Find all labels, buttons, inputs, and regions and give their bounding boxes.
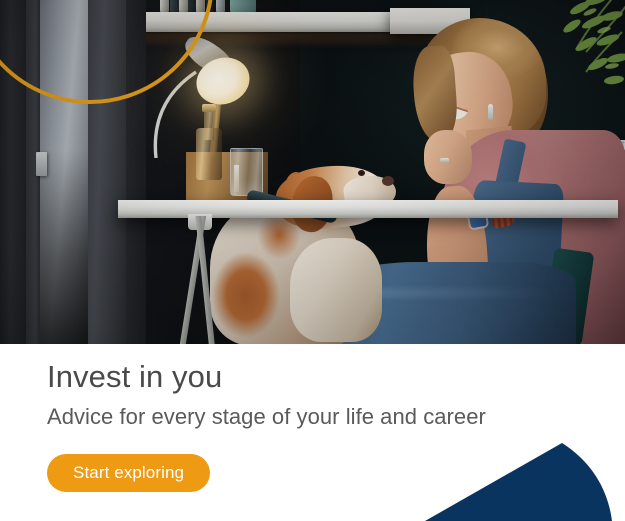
woman-ring [440,158,449,163]
bottle-neck [204,110,214,140]
hero-photo [0,0,625,344]
start-exploring-button[interactable]: Start exploring [47,454,210,492]
water-glass [230,148,263,196]
page-subtitle: Advice for every stage of your life and … [47,404,486,429]
jeans-fold [360,288,550,298]
dog-eye [358,170,365,176]
potted-plant [556,0,625,122]
woman-hand [424,130,472,184]
dog-chest [290,238,382,342]
page-title: Invest in you [47,360,222,394]
banner-content: Invest in you Advice for every stage of … [0,344,625,521]
dog-nose [382,176,394,186]
woman-earring [488,104,493,120]
wall-switch [36,152,47,176]
hero-banner: Invest in you Advice for every stage of … [0,0,625,521]
gold-arc-icon [0,0,220,110]
navy-wedge-icon [340,426,625,521]
glass-bottle [196,104,222,180]
